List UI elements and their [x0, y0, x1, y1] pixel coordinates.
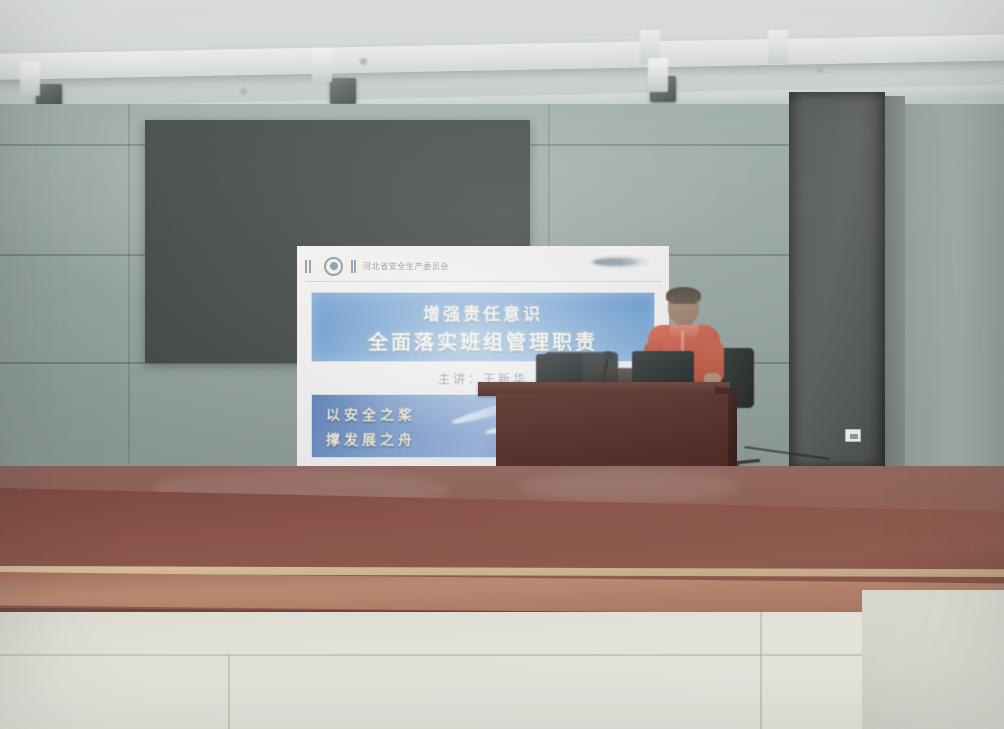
ceiling-speaker-icon [330, 78, 356, 104]
floor-tile-seam [760, 612, 762, 729]
conference-hall-scene: 河北省安全生产委员会 增强责任意识 全面落实班组管理职责 主讲：王新华 以安全之… [0, 0, 1004, 729]
ceiling-light-fixture [312, 48, 332, 82]
floor-tile-seam [0, 654, 1004, 656]
projection-screen-frame: 河北省安全生产委员会 增强责任意识 全面落实班组管理职责 主讲：王新华 以安全之… [145, 120, 530, 363]
ceiling-fitting-dot [816, 66, 823, 73]
wall-right-section [898, 104, 1004, 524]
logo-side-bars-icon [305, 260, 311, 273]
wall-power-outlet-icon [845, 429, 861, 442]
header-watermark-graphic-icon [571, 250, 663, 273]
ceiling-fitting-dot [360, 58, 367, 65]
slide-title-line-1: 增强责任意识 [423, 300, 543, 325]
ceiling-beam-primary [0, 33, 1004, 80]
recessed-doorway [789, 92, 885, 469]
laptop-right [632, 351, 694, 385]
eyeglasses-icon [669, 303, 697, 308]
ceiling-fitting-dot [240, 88, 247, 95]
logo-side-bars-icon [351, 260, 357, 273]
floor-tile-seam [228, 654, 230, 729]
ceiling-light-fixture [20, 62, 40, 96]
slide-title-line-2: 全面落实班组管理职责 [368, 326, 598, 355]
floor-right-section [862, 590, 1004, 729]
ceiling-light-fixture [648, 58, 668, 92]
tiled-floor [0, 612, 1004, 729]
wall-panel-seam [128, 104, 130, 464]
ceiling-light-fixture [768, 30, 788, 64]
slide-banner-line-1: 以安全之桨 [326, 405, 416, 425]
slide-organization-text: 河北省安全生产委员会 [363, 261, 449, 272]
slide-banner-text: 以安全之桨 撑发展之舟 [326, 405, 416, 450]
laptop-left [536, 354, 582, 384]
slide-banner-line-2: 撑发展之舟 [326, 430, 416, 450]
safety-association-emblem-icon [317, 255, 351, 277]
